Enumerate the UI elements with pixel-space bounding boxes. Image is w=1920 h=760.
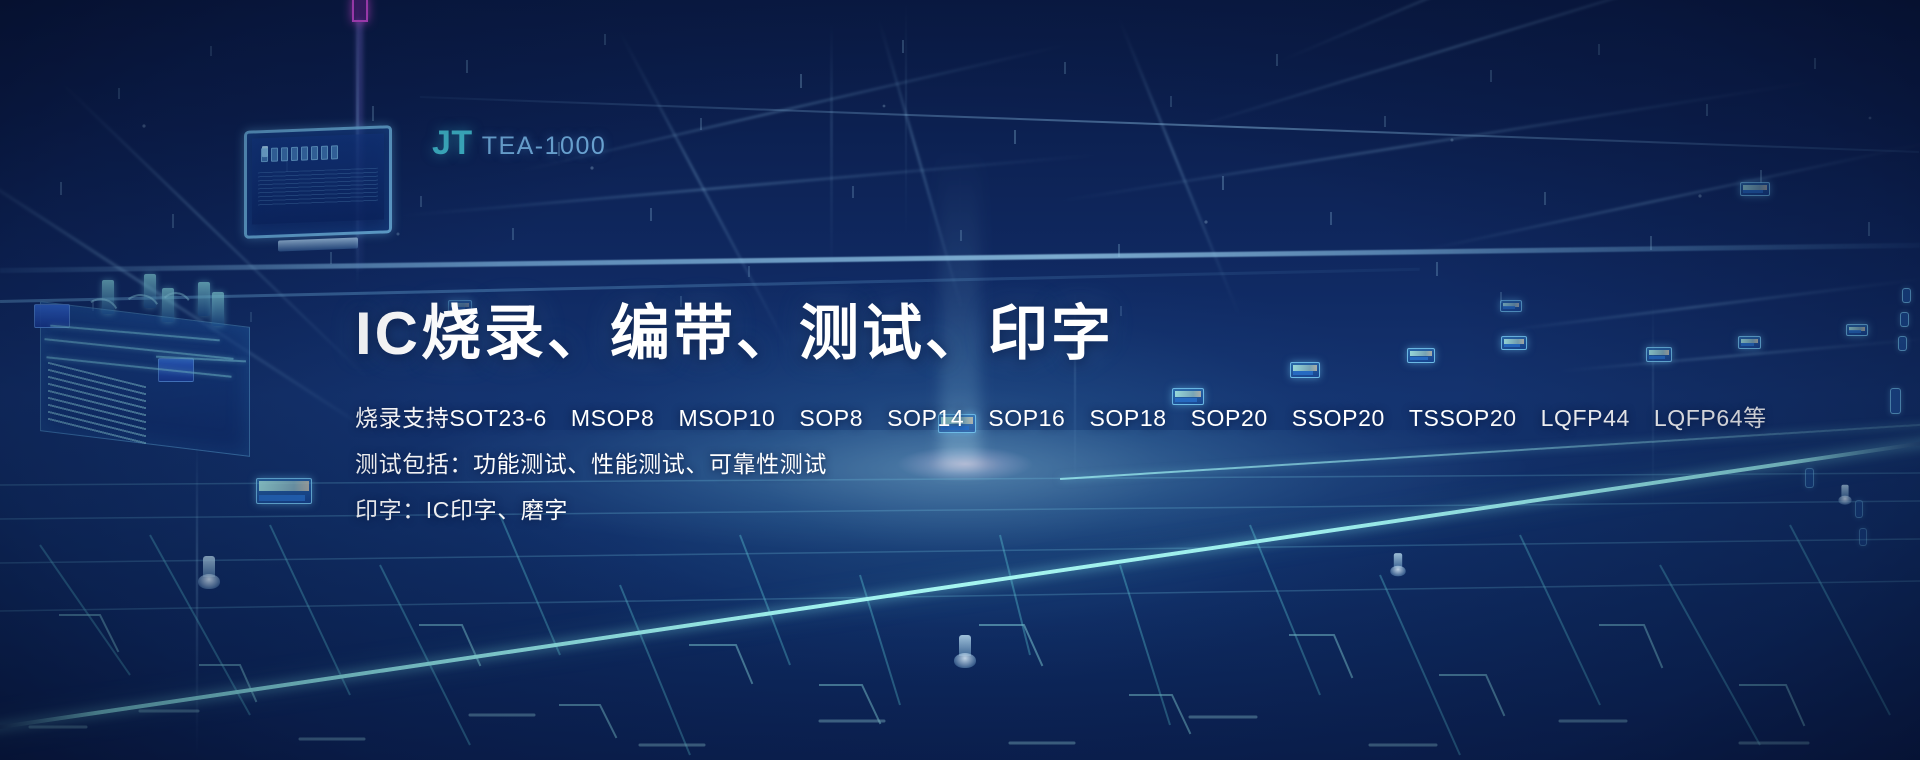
hero-banner: JT TEA-1000 bbox=[0, 0, 1920, 760]
vignette-overlay bbox=[0, 0, 1920, 760]
